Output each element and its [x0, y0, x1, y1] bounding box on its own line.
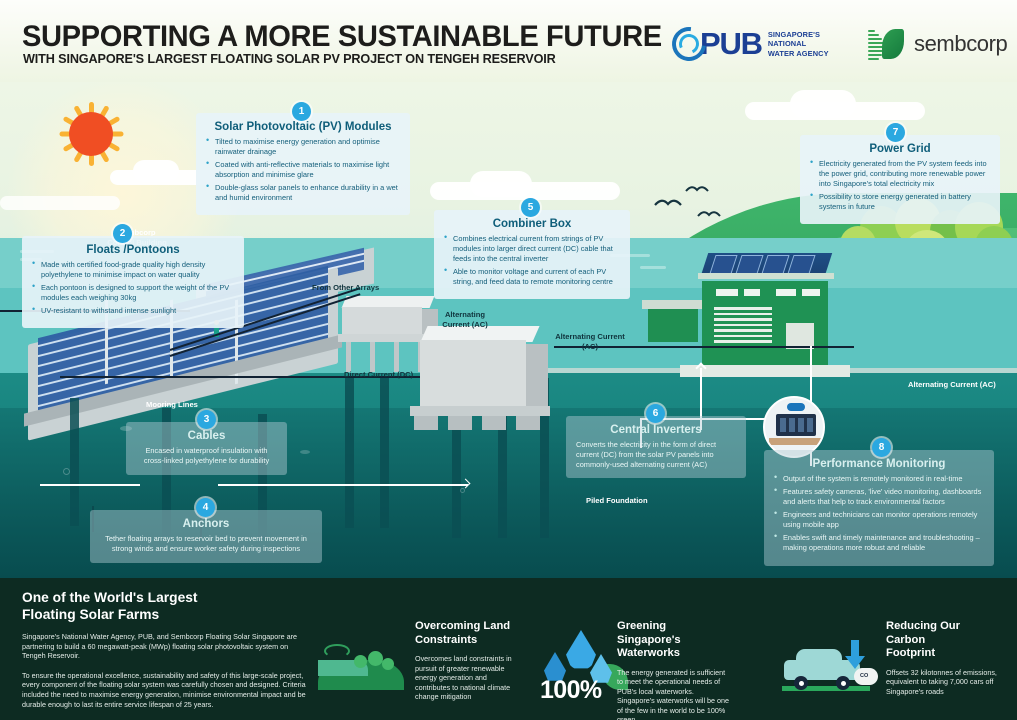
- cloud-icon: [0, 196, 120, 210]
- footer-benefit-carbon: Reducing Our Carbon Footprint Offsets 32…: [886, 620, 998, 696]
- card-body: Tether floating arrays to reservoir bed …: [100, 534, 312, 554]
- sembcorp-control-building: [690, 243, 840, 378]
- benefit-heading: Greening Singapore's Waterworks: [617, 620, 732, 661]
- land-hill-icon: [318, 638, 404, 690]
- label-direct-current: Direct Current (DC): [344, 370, 413, 380]
- footer-benefit-land: Overcoming Land Constraints Overcomes la…: [415, 620, 520, 702]
- badge-2: 2: [113, 224, 132, 243]
- badge-1: 1: [292, 102, 311, 121]
- label-mooring-lines: Mooring Lines: [146, 400, 198, 410]
- card-bullets: Made with certified food-grade quality h…: [32, 260, 234, 316]
- badge-7: 7: [886, 123, 905, 142]
- card-combiner-box[interactable]: Combiner Box Combines electrical current…: [434, 210, 630, 299]
- card-solar-pv-modules[interactable]: Solar Photovoltaic (PV) Modules Tilted t…: [196, 113, 410, 215]
- sembcorp-logo: sembcorp: [868, 26, 1007, 62]
- sun-icon: [60, 103, 122, 165]
- card-title: Performance Monitoring: [774, 458, 984, 470]
- sembcorp-leaf-icon: [868, 27, 906, 61]
- pub-logo: PUB SINGAPORE'S NATIONAL WATER AGENCY: [672, 27, 829, 61]
- badge-5: 5: [521, 198, 540, 217]
- benefit-heading: Reducing Our Carbon Footprint: [886, 620, 998, 661]
- footer-intro: One of the World's Largest Floating Sola…: [22, 590, 310, 709]
- footer-heading: One of the World's Largest Floating Sola…: [22, 590, 310, 623]
- page-title: SUPPORTING A MORE SUSTAINABLE FUTURE: [22, 20, 662, 54]
- mooring-line: [218, 484, 468, 486]
- down-arrow-icon: [844, 640, 866, 670]
- card-floats-pontoons[interactable]: Floats /Pontoons Made with certified foo…: [22, 236, 244, 328]
- card-bullets: Electricity generated from the PV system…: [810, 159, 990, 211]
- card-performance-monitoring[interactable]: Performance Monitoring Output of the sys…: [764, 450, 994, 566]
- mooring-line: [40, 484, 140, 486]
- label-from-other-arrays: From Other Arrays: [312, 283, 379, 293]
- card-body: Encased in waterproof insulation with cr…: [136, 446, 277, 466]
- card-title: Central Inverters: [576, 424, 736, 436]
- monitoring-room-thumbnail: [763, 396, 825, 458]
- water-drops-icon: 100%: [540, 630, 626, 704]
- footer-benefit-waterworks: Greening Singapore's Waterworks The ener…: [617, 620, 732, 720]
- header: SUPPORTING A MORE SUSTAINABLE FUTURE WIT…: [0, 0, 1017, 82]
- card-title: Solar Photovoltaic (PV) Modules: [206, 121, 400, 133]
- label-alternating-current-1: AlternatingCurrent (AC): [420, 310, 510, 330]
- card-title: Anchors: [100, 518, 312, 530]
- cloud-icon: [790, 90, 856, 118]
- stat-100-percent: 100%: [540, 676, 602, 705]
- card-cables[interactable]: Cables Encased in waterproof insulation …: [126, 422, 287, 475]
- cloud-icon: [133, 160, 179, 182]
- card-anchors[interactable]: Anchors Tether floating arrays to reserv…: [90, 510, 322, 563]
- footer-paragraph-2: To ensure the operational excellence, su…: [22, 671, 310, 709]
- card-central-inverters[interactable]: Central Inverters Converts the electrici…: [566, 416, 746, 478]
- badge-8: 8: [872, 438, 891, 457]
- benefit-body: Overcomes land constraints in pursuit of…: [415, 654, 520, 702]
- card-title: Floats /Pontoons: [32, 244, 234, 256]
- sembcorp-wordmark: sembcorp: [914, 31, 1007, 57]
- benefit-heading: Overcoming Land Constraints: [415, 620, 520, 647]
- pub-ring-icon: [672, 27, 706, 61]
- card-title: Combiner Box: [444, 218, 620, 230]
- benefit-body: Offsets 32 kilotonnes of emissions, equi…: [886, 668, 998, 697]
- label-alternating-current-2: Alternating Current(AC): [540, 332, 640, 352]
- label-piled-foundation: Piled Foundation: [586, 496, 648, 506]
- badge-6: 6: [646, 404, 665, 423]
- card-title: Cables: [136, 430, 277, 442]
- card-bullets: Tilted to maximise energy generation and…: [206, 137, 400, 203]
- page-subtitle: WITH SINGAPORE'S LARGEST FLOATING SOLAR …: [23, 51, 556, 66]
- car-emissions-icon: CO: [782, 646, 878, 696]
- infographic-page: SUPPORTING A MORE SUSTAINABLE FUTURE WIT…: [0, 0, 1017, 720]
- label-alternating-current-3: Alternating Current (AC): [908, 380, 996, 390]
- badge-4: 4: [196, 498, 215, 517]
- card-bullets: Combines electrical current from strings…: [444, 234, 620, 286]
- footer-paragraph-1: Singapore's National Water Agency, PUB, …: [22, 632, 310, 661]
- pub-tagline: SINGAPORE'S NATIONAL WATER AGENCY: [768, 30, 829, 58]
- card-body: Converts the electricity in the form of …: [576, 440, 736, 469]
- pub-wordmark: PUB: [700, 27, 762, 61]
- card-bullets: Output of the system is remotely monitor…: [774, 474, 984, 553]
- card-power-grid[interactable]: Power Grid Electricity generated from th…: [800, 135, 1000, 224]
- central-inverter-box: [424, 326, 554, 426]
- card-title: Power Grid: [810, 143, 990, 155]
- cloud-icon: [470, 171, 532, 197]
- benefit-body: The energy generated is sufficient to me…: [617, 668, 732, 720]
- footer: One of the World's Largest Floating Sola…: [0, 578, 1017, 720]
- badge-3: 3: [197, 410, 216, 429]
